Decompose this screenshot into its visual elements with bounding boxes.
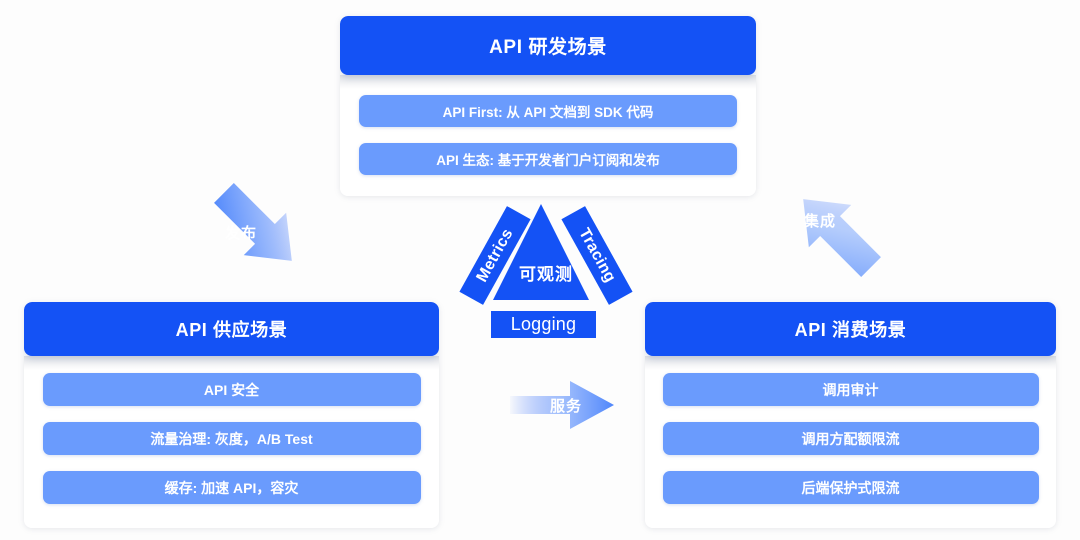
card-title-supply: API 供应场景	[176, 316, 288, 342]
list-item[interactable]: 后端保护式限流	[663, 471, 1039, 504]
item-label: API First: 从 API 文档到 SDK 代码	[443, 101, 654, 121]
observability-triangle-icon	[493, 204, 589, 300]
card-body-consumption: 调用审计 调用方配额限流 后端保护式限流	[645, 356, 1056, 528]
item-label: 后端保护式限流	[802, 478, 900, 498]
item-label: 流量治理: 灰度，A/B Test	[150, 429, 312, 449]
logging-bar[interactable]: Logging	[491, 311, 596, 338]
card-title-consumption: API 消费场景	[795, 316, 907, 342]
item-label: API 安全	[204, 380, 259, 400]
list-item[interactable]: 流量治理: 灰度，A/B Test	[43, 422, 421, 455]
list-item[interactable]: API 安全	[43, 373, 421, 406]
card-header-consumption: API 消费场景	[645, 302, 1056, 356]
card-api-supply[interactable]: API 供应场景 API 安全 流量治理: 灰度，A/B Test 缓存: 加速…	[24, 302, 439, 528]
card-api-consumption[interactable]: API 消费场景 调用审计 调用方配额限流 后端保护式限流	[645, 302, 1056, 528]
item-label: 缓存: 加速 API，容灾	[165, 478, 299, 498]
arrow-publish: 发布	[205, 182, 315, 277]
observability-cluster: Metrics Tracing 可观测 Logging	[440, 196, 652, 346]
arrow-service: 服务	[508, 377, 618, 433]
card-api-development[interactable]: API 研发场景 API First: 从 API 文档到 SDK 代码 API…	[340, 16, 756, 196]
card-body-development: API First: 从 API 文档到 SDK 代码 API 生态: 基于开发…	[340, 75, 756, 196]
logging-label: Logging	[511, 314, 576, 335]
item-label: 调用审计	[823, 380, 879, 400]
list-item[interactable]: 调用方配额限流	[663, 422, 1039, 455]
list-item[interactable]: 缓存: 加速 API，容灾	[43, 471, 421, 504]
item-label: API 生态: 基于开发者门户订阅和发布	[436, 149, 660, 169]
card-header-development: API 研发场景	[340, 16, 756, 75]
card-body-supply: API 安全 流量治理: 灰度，A/B Test 缓存: 加速 API，容灾	[24, 356, 439, 528]
card-title-development: API 研发场景	[489, 32, 607, 59]
observability-center-label: 可观测	[440, 260, 652, 285]
list-item[interactable]: 调用审计	[663, 373, 1039, 406]
list-item[interactable]: API First: 从 API 文档到 SDK 代码	[359, 95, 737, 127]
item-label: 调用方配额限流	[802, 429, 900, 449]
arrow-integrate: 集成	[780, 184, 890, 279]
list-item[interactable]: API 生态: 基于开发者门户订阅和发布	[359, 143, 737, 175]
diagram-canvas: API 研发场景 API First: 从 API 文档到 SDK 代码 API…	[0, 0, 1080, 540]
card-header-supply: API 供应场景	[24, 302, 439, 356]
